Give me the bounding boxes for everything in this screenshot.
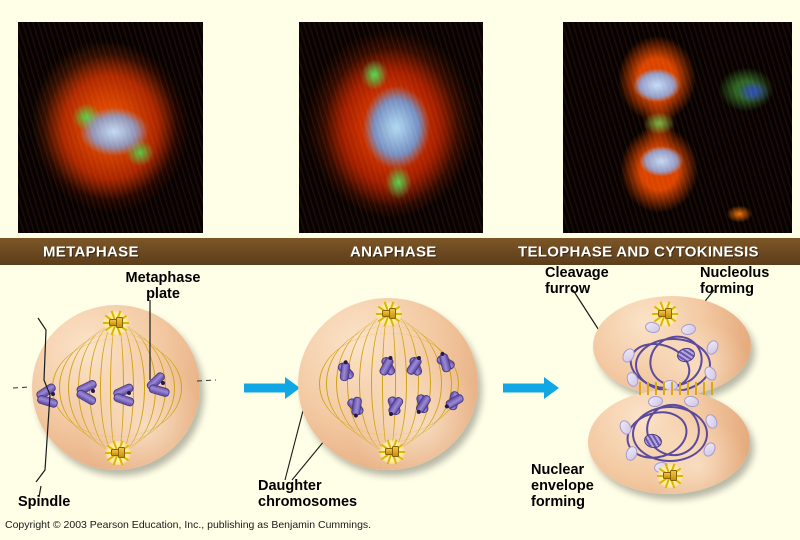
micrograph-anaphase — [299, 22, 483, 233]
centrosome-bottom — [377, 439, 407, 465]
centromere — [416, 410, 421, 415]
centriole — [116, 317, 123, 328]
metaphase-plate-axis-right — [197, 380, 216, 381]
label-daughter-chromosomes: Daughter chromosomes — [258, 478, 357, 510]
chromosome-metaphase — [39, 382, 68, 405]
arrow-shaft — [503, 384, 546, 393]
centriole — [665, 308, 672, 319]
centrosome-top — [101, 310, 131, 336]
micrograph-metaphase — [18, 22, 203, 233]
microfilament — [687, 382, 689, 395]
label-cleavage-furrow: Cleavage furrow — [545, 265, 609, 297]
stage-label-metaphase: METAPHASE — [43, 243, 139, 260]
centrosome-top — [374, 301, 404, 327]
centrosome-bottom — [655, 463, 685, 489]
metaphase-cell — [32, 305, 200, 470]
microfilament — [695, 382, 697, 395]
telophase-daughter-cell-top — [593, 296, 751, 396]
centromere — [389, 412, 393, 416]
label-nucleolus-forming: Nucleolus forming — [700, 265, 769, 297]
chromosome-anaphase — [407, 355, 429, 379]
centromere — [161, 381, 166, 386]
label-metaphase-plate: Metaphase plate — [115, 270, 211, 302]
centriole — [118, 447, 125, 458]
chromosome-anaphase — [409, 391, 432, 416]
chromosome-anaphase — [381, 393, 403, 417]
stage-label-telophase: TELOPHASE AND CYTOKINESIS — [518, 243, 759, 260]
micrograph-telophase — [563, 22, 792, 233]
chromosome-anaphase — [379, 355, 400, 378]
stage-label-bar: METAPHASE ANAPHASE TELOPHASE AND CYTOKIN… — [0, 238, 800, 265]
micrograph-metaphase-texture — [18, 22, 203, 233]
microfilament — [703, 382, 705, 395]
centriole — [392, 446, 399, 457]
centriole — [389, 308, 396, 319]
arrow-metaphase-to-anaphase — [244, 377, 300, 399]
chromosome-metaphase — [117, 383, 142, 402]
anaphase-cell — [298, 298, 478, 470]
stage-label-anaphase: ANAPHASE — [350, 243, 437, 260]
centriole — [670, 470, 677, 481]
arrow-shaft — [244, 384, 287, 393]
microfilament — [655, 382, 657, 395]
centromere — [51, 392, 56, 397]
centromere — [91, 389, 95, 393]
figure-canvas: METAPHASE ANAPHASE TELOPHASE AND CYTOKIN… — [0, 0, 800, 540]
microfilament — [663, 382, 665, 395]
metaphase-plate-axis-left — [13, 387, 30, 388]
microfilament — [679, 382, 681, 395]
spindle-fiber — [319, 333, 459, 435]
label-spindle: Spindle — [18, 494, 70, 510]
microfilament — [647, 382, 649, 395]
micrograph-anaphase-texture — [299, 22, 483, 233]
cleavage-furrow-microfilaments — [639, 382, 719, 395]
microfilament — [639, 382, 641, 395]
microfilament — [711, 382, 713, 395]
micrograph-telophase-texture — [563, 22, 792, 233]
centromere — [127, 391, 131, 395]
centrosome-bottom — [103, 440, 133, 466]
telophase-daughter-cell-bottom — [588, 390, 750, 494]
microfilament — [671, 382, 673, 395]
label-nuclear-envelope-forming: Nuclear envelope forming — [531, 462, 594, 511]
chromosome-metaphase — [80, 381, 107, 402]
arrow-anaphase-to-telophase — [503, 377, 559, 399]
arrow-head — [544, 377, 559, 399]
copyright-notice: Copyright © 2003 Pearson Education, Inc.… — [5, 519, 371, 531]
